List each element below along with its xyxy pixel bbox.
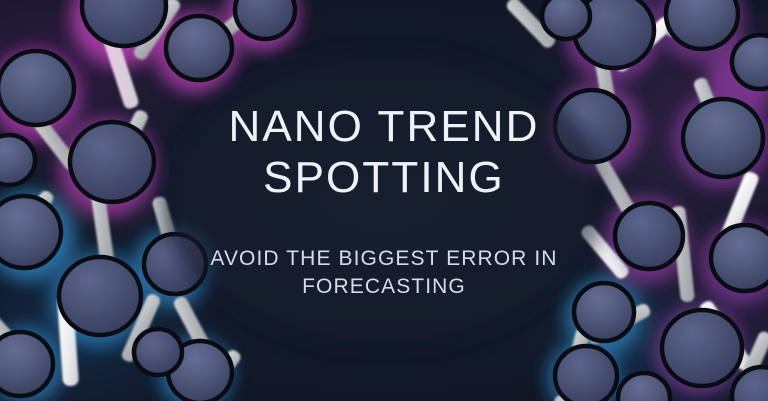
title-line-1: NANO TREND bbox=[228, 102, 539, 151]
page-subtitle: AVOID THE BIGGEST ERROR IN FORECASTING bbox=[210, 245, 557, 300]
subtitle-line-2: FORECASTING bbox=[210, 273, 557, 301]
page-title: NANO TREND SPOTTING bbox=[228, 101, 539, 203]
banner-content: NANO TREND SPOTTING AVOID THE BIGGEST ER… bbox=[0, 0, 768, 401]
title-line-2: SPOTTING bbox=[228, 152, 539, 203]
banner: NANO TREND SPOTTING AVOID THE BIGGEST ER… bbox=[0, 0, 768, 401]
subtitle-line-1: AVOID THE BIGGEST ERROR IN bbox=[210, 247, 557, 270]
